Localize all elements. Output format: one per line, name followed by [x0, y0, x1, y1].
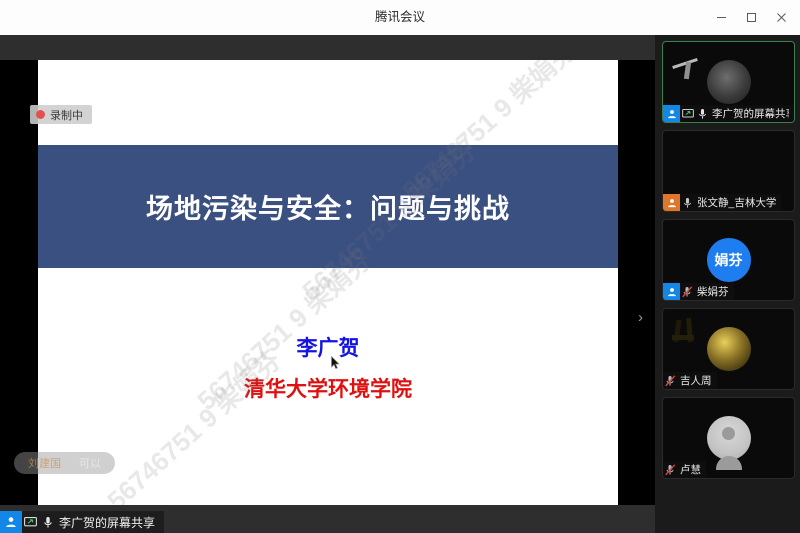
watermark-text: 56746751 9 柴娟芬: [98, 341, 288, 505]
microphone-icon: [39, 511, 56, 533]
screen-share-icon: [22, 511, 39, 533]
participant-tile[interactable]: 李广贺的屏幕共享: [662, 41, 795, 123]
slide-title: 场地污染与安全：问题与挑战: [38, 145, 618, 268]
minimize-button[interactable]: [706, 5, 736, 31]
participant-name-bar: 柴娟芬: [663, 283, 734, 300]
share-owner-label: 李广贺的屏幕共享: [59, 514, 155, 531]
participant-name-bar: 张文静_吉林大学: [663, 194, 781, 211]
title-bar: 腾讯会议: [0, 0, 800, 36]
avatar: [707, 60, 751, 104]
avatar: [707, 327, 751, 371]
avatar: 娟芬: [707, 238, 751, 282]
chat-sender-name: 刘建国: [28, 455, 61, 471]
screen-share-icon: [680, 105, 695, 122]
microphone-muted-icon: [680, 283, 695, 300]
record-dot-icon: [36, 110, 45, 119]
participant-tile[interactable]: 吉人周: [662, 308, 795, 390]
participant-name: 李广贺的屏幕共享: [712, 106, 789, 121]
close-button[interactable]: [766, 5, 796, 31]
participant-tile[interactable]: 卢慧: [662, 397, 795, 479]
participant-tile[interactable]: 娟芬 柴娟芬: [662, 219, 795, 301]
chat-overlay-bubble: 刘建国 可以: [14, 452, 115, 474]
mouse-cursor-icon: [331, 356, 341, 370]
participants-panel[interactable]: 李广贺的屏幕共享 张文静_吉林大学 娟芬: [655, 35, 800, 533]
participant-tile[interactable]: 张文静_吉林大学: [662, 130, 795, 212]
participant-name-bar: 吉人周: [663, 372, 717, 389]
maximize-button[interactable]: [736, 5, 766, 31]
shared-screen-stage[interactable]: 场地污染与安全：问题与挑战 李广贺 清华大学环境学院 56746751 9 柴娟…: [0, 35, 655, 533]
participant-name: 张文静_吉林大学: [697, 195, 776, 210]
recording-label: 录制中: [50, 107, 83, 123]
slide-affiliation: 清华大学环境学院: [38, 373, 618, 403]
microphone-icon: [695, 105, 710, 122]
active-share-strip: 李广贺的屏幕共享: [0, 511, 164, 533]
participant-name-bar: 李广贺的屏幕共享: [663, 105, 794, 122]
participant-name: 卢慧: [680, 462, 701, 477]
participant-name: 吉人周: [680, 373, 712, 388]
window-title: 腾讯会议: [0, 0, 800, 35]
slide-presenter-name: 李广贺: [38, 332, 618, 362]
chat-message-text: 可以: [79, 455, 101, 471]
person-icon: [663, 105, 680, 122]
person-icon: [663, 283, 680, 300]
participant-name: 柴娟芬: [697, 284, 729, 299]
person-icon: [0, 511, 22, 533]
chevron-right-icon[interactable]: ›: [638, 310, 643, 325]
microphone-muted-icon: [663, 461, 678, 478]
microphone-icon: [680, 194, 695, 211]
recording-badge: 录制中: [30, 105, 92, 124]
microphone-muted-icon: [663, 372, 678, 389]
avatar: [707, 416, 751, 460]
meeting-window: 腾讯会议 场地污染与安全：问题与挑战 李广贺 清华大学环境学院 56746751…: [0, 0, 800, 533]
window-controls: [706, 0, 796, 35]
person-icon: [663, 194, 680, 211]
watermark: 56746751 9 柴娟芬 56746751 9 柴娟芬 56746751 9…: [38, 60, 618, 505]
presentation-slide: 场地污染与安全：问题与挑战 李广贺 清华大学环境学院 56746751 9 柴娟…: [38, 60, 618, 505]
stage-top-strip: [0, 35, 655, 60]
participant-name-bar: 卢慧: [663, 461, 706, 478]
